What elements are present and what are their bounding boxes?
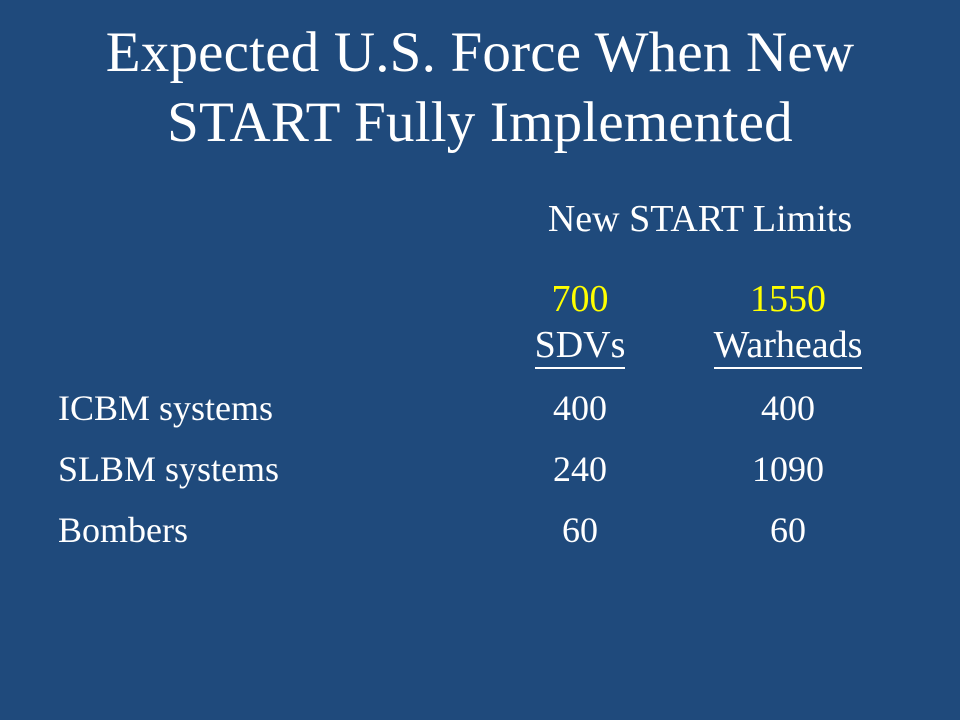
row-label-slbm: SLBM systems [58, 451, 478, 487]
table-column-headers: 700 SDVs 1550 Warheads [0, 280, 960, 386]
row-bombers-sdvs: 60 [492, 512, 668, 548]
column-label-warheads: Warheads [714, 324, 863, 370]
column-limit-sdvs: 700 [492, 280, 668, 320]
column-header-warheads: 1550 Warheads [690, 280, 886, 369]
column-label-warheads-wrap: Warheads [690, 324, 886, 370]
column-label-sdvs: SDVs [535, 324, 626, 370]
row-icbm-sdvs: 400 [492, 390, 668, 426]
table-rows: ICBM systems 400 400 SLBM systems 240 10… [0, 390, 960, 573]
table-group-heading: New START Limits [460, 198, 940, 242]
column-header-sdvs: 700 SDVs [492, 280, 668, 369]
table-row: SLBM systems 240 1090 [0, 451, 960, 512]
row-icbm-warheads: 400 [690, 390, 886, 426]
slide-title-line-1: Expected U.S. Force When New [0, 18, 960, 88]
row-bombers-warheads: 60 [690, 512, 886, 548]
table-row: Bombers 60 60 [0, 512, 960, 573]
presentation-slide: Expected U.S. Force When New START Fully… [0, 0, 960, 720]
row-label-icbm: ICBM systems [58, 390, 478, 426]
slide-title-line-2: START Fully Implemented [0, 88, 960, 158]
column-limit-warheads: 1550 [690, 280, 886, 320]
slide-title: Expected U.S. Force When New START Fully… [0, 18, 960, 157]
row-slbm-sdvs: 240 [492, 451, 668, 487]
table-row: ICBM systems 400 400 [0, 390, 960, 451]
row-label-bombers: Bombers [58, 512, 478, 548]
column-label-sdvs-wrap: SDVs [492, 324, 668, 370]
row-slbm-warheads: 1090 [690, 451, 886, 487]
